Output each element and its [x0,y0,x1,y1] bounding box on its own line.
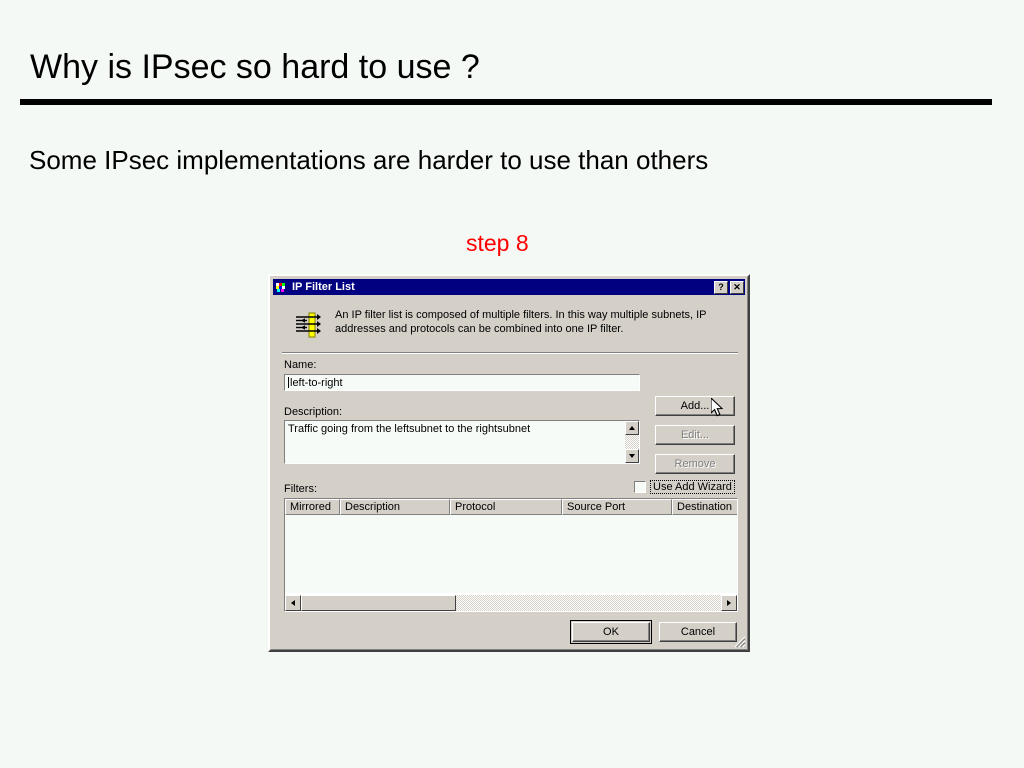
checkbox-box[interactable] [634,481,646,493]
column-header-mirrored[interactable]: Mirrored [285,499,340,515]
scroll-up-button[interactable] [625,421,639,435]
column-header-source-port[interactable]: Source Port [562,499,672,515]
filters-listview[interactable]: Mirrored Description Protocol Source Por… [284,498,738,612]
help-button[interactable]: ? [714,281,728,294]
arrow-down-icon [629,454,635,458]
use-add-wizard-label: Use Add Wizard [650,480,735,494]
column-header-protocol[interactable]: Protocol [450,499,562,515]
column-header-destination[interactable]: Destination [672,499,738,515]
edit-button[interactable]: Edit... [655,425,735,445]
filters-label: Filters: [284,483,317,495]
use-add-wizard-checkbox[interactable]: Use Add Wizard [634,480,735,494]
dialog-title: IP Filter List [292,279,712,295]
name-input-value: left-to-right [290,377,343,389]
cancel-button[interactable]: Cancel [659,622,737,642]
hscroll-track[interactable] [301,595,721,611]
listview-body[interactable] [285,515,737,593]
scroll-left-button[interactable] [285,595,301,611]
arrow-left-icon [291,600,295,606]
arrow-right-icon [727,600,731,606]
name-label: Name: [284,359,316,371]
arrow-up-icon [629,426,635,430]
description-textarea[interactable]: Traffic going from the leftsubnet to the… [284,420,640,464]
page-title: Why is IPsec so hard to use ? [30,48,480,87]
dialog-titlebar[interactable]: IP Filter List ? ✕ [273,279,745,295]
filter-arrows-icon [291,309,323,341]
listview-horizontal-scrollbar[interactable] [285,595,737,611]
slide-subtitle: Some IPsec implementations are harder to… [29,145,708,176]
hscroll-thumb[interactable] [301,595,456,611]
scroll-track[interactable] [625,435,639,449]
ok-button[interactable]: OK [572,622,650,642]
text-caret [288,377,289,388]
title-divider [20,99,992,105]
remove-button[interactable]: Remove [655,454,735,474]
column-header-description[interactable]: Description [340,499,450,515]
dialog-description-text: An IP filter list is composed of multipl… [335,308,725,336]
listview-header-row: Mirrored Description Protocol Source Por… [285,499,737,515]
ip-filter-list-icon [275,281,288,294]
step-label: step 8 [466,230,529,257]
add-button[interactable]: Add... [655,396,735,416]
description-label: Description: [284,406,342,418]
header-separator [282,352,738,354]
scroll-right-button[interactable] [721,595,737,611]
description-vertical-scrollbar[interactable] [625,421,639,463]
resize-grip[interactable] [732,634,746,648]
close-icon[interactable]: ✕ [730,281,744,294]
ip-filter-list-dialog: IP Filter List ? ✕ An IP fil [268,274,750,652]
name-input[interactable]: left-to-right [284,374,640,391]
scroll-down-button[interactable] [625,449,639,463]
description-value: Traffic going from the leftsubnet to the… [288,423,608,435]
